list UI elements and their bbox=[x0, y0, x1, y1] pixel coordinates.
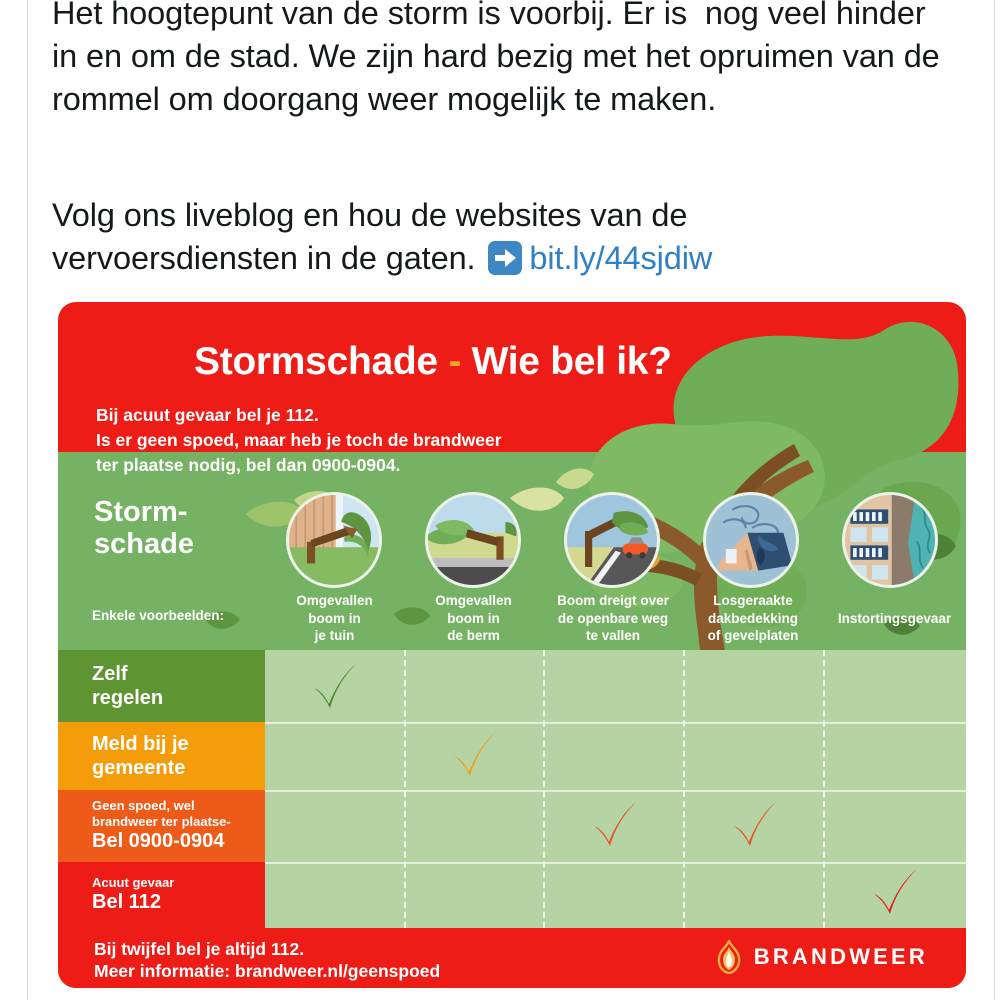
row-label-brandweer[interactable]: Geen spoed, wel brandweer ter plaatse- B… bbox=[58, 790, 265, 862]
brandweer-wordmark: BRANDWEER bbox=[754, 944, 928, 970]
row-label-brandweer-phone: Bel 0900-0904 bbox=[92, 829, 265, 854]
checkmark-acuut-instorting bbox=[866, 866, 922, 922]
infographic-footer: Bij twijfel bel je altijd 112. Meer info… bbox=[58, 928, 966, 988]
column-divider-3 bbox=[683, 650, 685, 928]
title-part-1: Stormschade bbox=[194, 340, 438, 383]
examples-header-strip: Enkele voorbeelden: Omgevallen boom in j… bbox=[58, 596, 966, 650]
column-header-3: Losgeraakte dakbedekking of gevelplaten bbox=[683, 592, 823, 645]
column-header-2: Boom dreigt over de openbare weg te vall… bbox=[543, 592, 683, 645]
infographic-subtitle: Bij acuut gevaar bel je 112. Is er geen … bbox=[96, 403, 502, 478]
column-divider-2 bbox=[543, 650, 545, 928]
row-label-acuut-phone: Bel 112 bbox=[92, 890, 265, 915]
collapsing-building-icon bbox=[842, 492, 938, 588]
checkmark-brandweer-weg bbox=[586, 798, 642, 854]
row-divider-3 bbox=[265, 862, 966, 864]
screenshot-root: Het hoogtepunt van de storm is voorbij. … bbox=[0, 0, 1000, 1000]
column-header-1: Omgevallen boom in de berm bbox=[404, 592, 543, 645]
column-header-4: Instortingsgevaar bbox=[823, 610, 966, 628]
row-divider-1 bbox=[265, 722, 966, 724]
row-divider-2 bbox=[265, 790, 966, 792]
infographic-title: Stormschade - Wie bel ik? bbox=[194, 340, 672, 384]
grid-cell-area bbox=[265, 650, 966, 928]
stormschade-label: Storm- schade bbox=[94, 496, 194, 560]
thread-rail-left bbox=[27, 0, 28, 1000]
checkmark-gemeente-berm bbox=[446, 728, 502, 784]
checkmark-brandweer-dak bbox=[726, 798, 782, 854]
row-label-brandweer-note: Geen spoed, wel brandweer ter plaatse- bbox=[92, 798, 265, 829]
decision-grid: Zelf regelen Meld bij je gemeente Geen s… bbox=[58, 650, 966, 928]
brandweer-logo: BRANDWEER bbox=[714, 940, 928, 974]
bitly-link[interactable]: bit.ly/44sjdiw bbox=[529, 240, 712, 276]
checkmark-zelf-regelen-tuin bbox=[306, 660, 362, 716]
column-divider-1 bbox=[404, 650, 406, 928]
row-label-gemeente[interactable]: Meld bij je gemeente bbox=[58, 722, 265, 790]
column-header-0: Omgevallen boom in je tuin bbox=[265, 592, 404, 645]
right-arrow-emoji bbox=[488, 241, 522, 275]
post-paragraph-1: Het hoogtepunt van de storm is voorbij. … bbox=[52, 0, 952, 121]
damaged-roof-icon bbox=[703, 492, 799, 588]
fallen-tree-garden-icon bbox=[286, 492, 382, 588]
row-label-gemeente-text: Meld bij je gemeente bbox=[92, 732, 265, 780]
thread-rail-right bbox=[994, 0, 995, 1000]
title-part-2: Wie bel ik? bbox=[472, 340, 672, 383]
row-label-acuut-gevaar[interactable]: Acuut gevaar Bel 112 bbox=[58, 862, 265, 928]
footer-text: Bij twijfel bel je altijd 112. Meer info… bbox=[94, 939, 440, 982]
fallen-tree-verge-icon bbox=[425, 492, 521, 588]
title-dash: - bbox=[448, 340, 461, 383]
row-label-zelf-regelen[interactable]: Zelf regelen bbox=[58, 650, 265, 722]
row-label-zelf-regelen-text: Zelf regelen bbox=[92, 662, 265, 710]
stormschade-infographic[interactable]: Stormschade - Wie bel ik? Bij acuut geva… bbox=[58, 302, 966, 988]
column-divider-4 bbox=[823, 650, 825, 928]
row-label-acuut-note: Acuut gevaar bbox=[92, 875, 265, 891]
tree-over-road-icon bbox=[564, 492, 660, 588]
brandweer-flame-icon bbox=[714, 940, 744, 974]
examples-label: Enkele voorbeelden: bbox=[92, 608, 224, 623]
post-paragraph-2: Volg ons liveblog en hou de websites van… bbox=[52, 194, 812, 280]
